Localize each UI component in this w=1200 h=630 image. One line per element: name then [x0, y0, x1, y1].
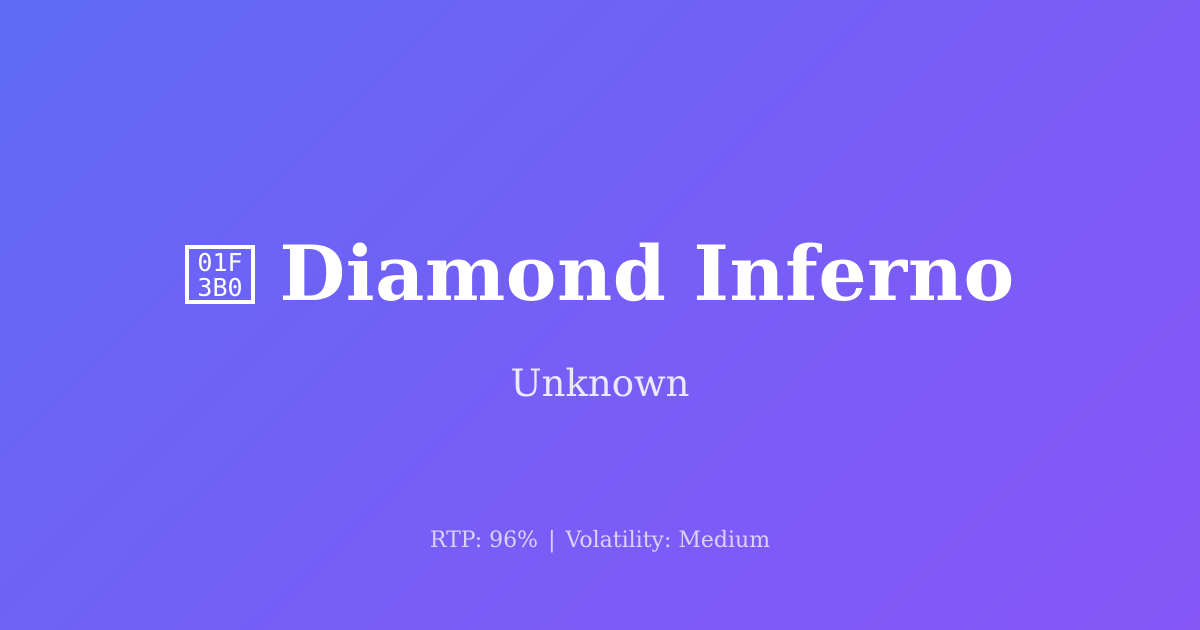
volatility-value: Volatility: Medium	[566, 528, 771, 553]
slot-machine-icon: 01F 3B0	[185, 245, 255, 304]
game-title: Diamond Inferno	[279, 236, 1014, 312]
title-row: 01F 3B0 Diamond Inferno	[0, 232, 1200, 316]
meta-separator: |	[545, 528, 558, 553]
game-meta-line: RTP: 96% | Volatility: Medium	[0, 527, 1200, 556]
rtp-value: RTP: 96%	[430, 528, 538, 553]
tofu-codepoint-bottom: 3B0	[198, 273, 243, 302]
game-provider-subtitle: Unknown	[0, 362, 1200, 406]
game-og-card: 01F 3B0 Diamond Inferno Unknown RTP: 96%…	[0, 0, 1200, 630]
